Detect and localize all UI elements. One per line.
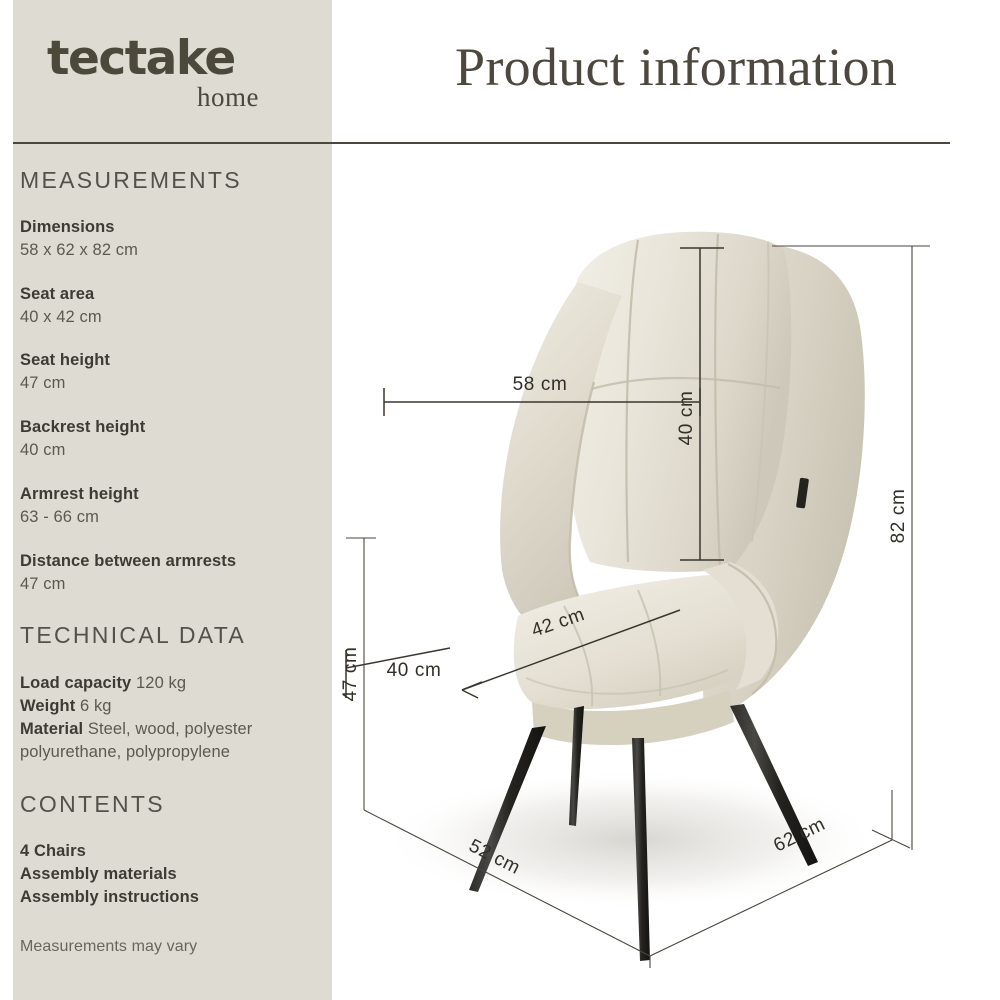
- product-information-sheet: tectake home MEASUREMENTS Dimensions 58 …: [0, 0, 1000, 1000]
- spec-value: 58 x 62 x 82 cm: [20, 239, 320, 262]
- dim-label-seat-width: 40 cm: [387, 660, 442, 681]
- section-heading-measurements: MEASUREMENTS: [20, 167, 242, 194]
- tech-weight: Weight 6 kg: [20, 695, 320, 718]
- spec-seat-area: Seat area 40 x 42 cm: [20, 283, 320, 329]
- spec-label: Backrest height: [20, 416, 320, 439]
- tech-material: Material Steel, wood, polyester: [20, 718, 320, 741]
- spec-dimensions: Dimensions 58 x 62 x 82 cm: [20, 216, 320, 262]
- spec-value: 47 cm: [20, 372, 320, 395]
- content-item: Assembly materials: [20, 863, 177, 886]
- brand-logo: tectake home: [47, 35, 287, 113]
- spec-label: Armrest height: [20, 483, 320, 506]
- content-item: Assembly instructions: [20, 886, 199, 909]
- dim-label-seat-height: 47 cm: [340, 647, 361, 702]
- brand-logo-subtitle: home: [47, 82, 287, 113]
- tech-label: Material: [20, 720, 83, 738]
- spec-label: Seat area: [20, 283, 320, 306]
- tech-value: 6 kg: [80, 697, 112, 715]
- spec-value: 47 cm: [20, 573, 320, 596]
- tech-value: 120 kg: [136, 674, 186, 692]
- brand-logo-wordmark: tectake: [47, 35, 287, 82]
- spec-value: 40 cm: [20, 439, 320, 462]
- product-diagram: 40 cm 58 cm 42 cm 40 cm 47 cm: [332, 150, 1000, 1000]
- spec-label: Distance between armrests: [20, 550, 320, 573]
- spec-distance-between-armrests: Distance between armrests 47 cm: [20, 550, 320, 596]
- spec-armrest-height: Armrest height 63 - 66 cm: [20, 483, 320, 529]
- section-heading-technical-data: TECHNICAL DATA: [20, 622, 246, 649]
- spec-label: Dimensions: [20, 216, 320, 239]
- section-heading-contents: CONTENTS: [20, 791, 165, 818]
- header-divider: [13, 142, 950, 144]
- tech-value: Steel, wood, polyester: [88, 720, 253, 738]
- spec-label: Seat height: [20, 349, 320, 372]
- tech-label: Weight: [20, 697, 75, 715]
- content-item: 4 Chairs: [20, 840, 86, 863]
- tech-load-capacity: Load capacity 120 kg: [20, 672, 320, 695]
- dim-label-backrest-height: 40 cm: [676, 391, 697, 446]
- tech-material-continued: polyurethane, polypropylene: [20, 741, 320, 764]
- dim-label-width-58: 58 cm: [513, 374, 568, 395]
- dim-label-total-height: 82 cm: [888, 489, 909, 544]
- measurements-footnote: Measurements may vary: [20, 938, 197, 956]
- spec-seat-height: Seat height 47 cm: [20, 349, 320, 395]
- tech-value: polyurethane, polypropylene: [20, 743, 230, 761]
- spec-value: 63 - 66 cm: [20, 506, 320, 529]
- page-title: Product information: [455, 36, 955, 98]
- spec-backrest-height: Backrest height 40 cm: [20, 416, 320, 462]
- tech-label: Load capacity: [20, 674, 131, 692]
- spec-value: 40 x 42 cm: [20, 306, 320, 329]
